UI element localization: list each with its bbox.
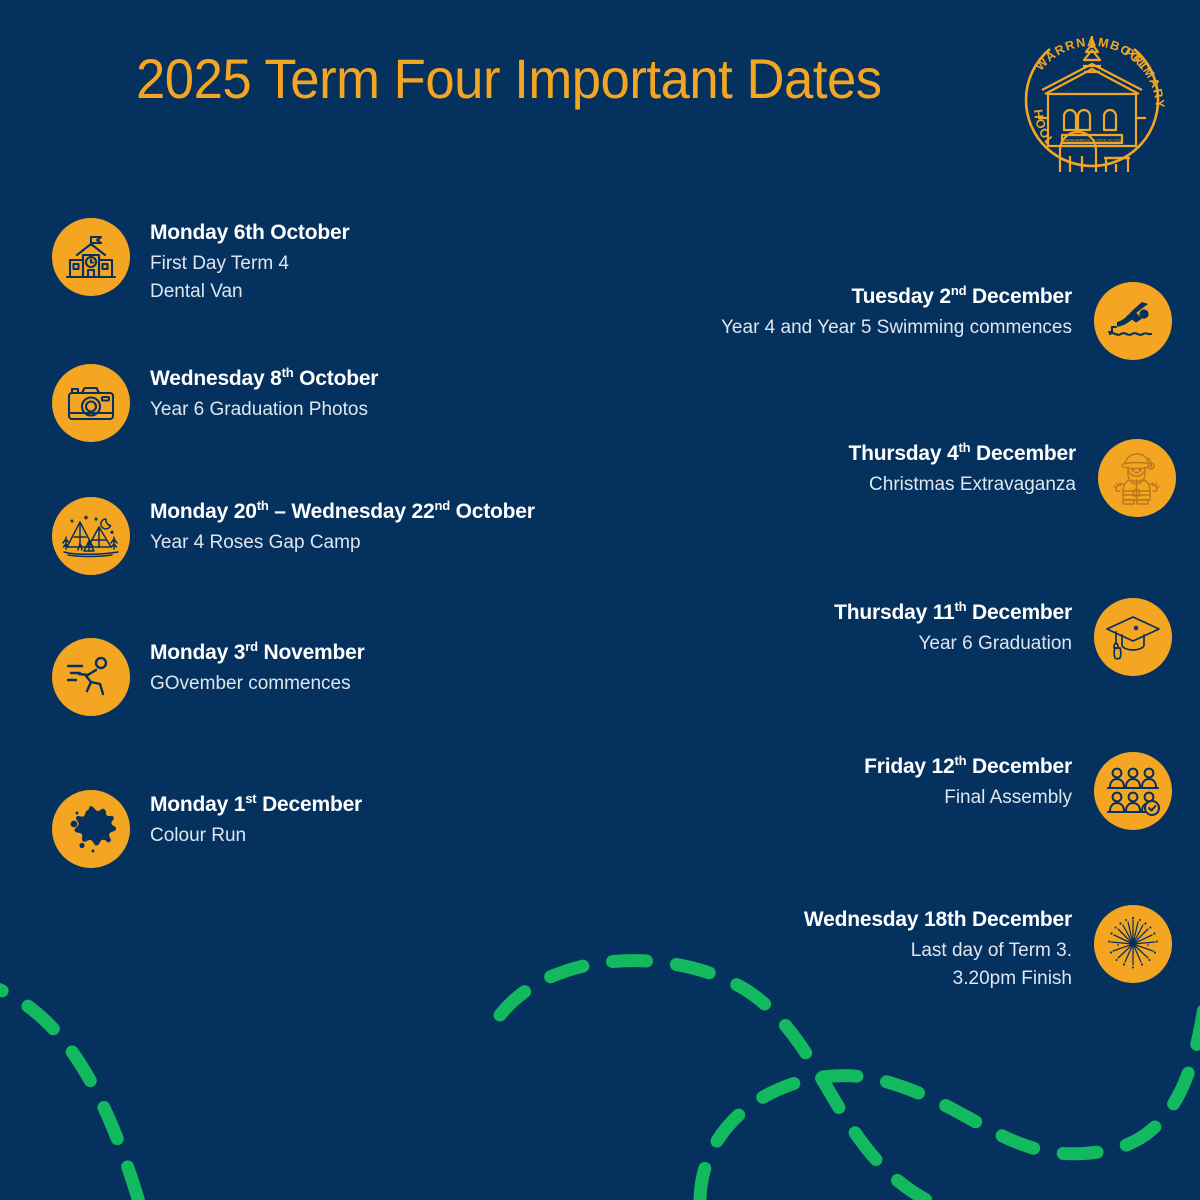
event-description: Year 4 and Year 5 Swimming commences: [721, 314, 1072, 342]
event-description: Year 4 Roses Gap Camp: [150, 529, 535, 557]
event-text: Thursday 4th December Christmas Extravag…: [848, 439, 1076, 499]
event-date: Monday 20th – Wednesday 22nd October: [150, 499, 535, 525]
event-date: Friday 12th December: [864, 754, 1072, 780]
event-date: Monday 6th October: [150, 220, 349, 246]
event-description: Final Assembly: [864, 784, 1072, 812]
event-row: Monday 20th – Wednesday 22nd October Yea…: [52, 497, 535, 575]
event-date: Monday 3rd November: [150, 640, 365, 666]
poster-canvas: WARRNAMBOOL: [0, 0, 1200, 1200]
event-description: Christmas Extravaganza: [848, 471, 1076, 499]
paint-splat-icon: [52, 790, 130, 868]
svg-text:PRIMARY: PRIMARY: [1122, 45, 1167, 110]
event-date: Tuesday 2nd December: [721, 284, 1072, 310]
event-date: Monday 1st December: [150, 792, 362, 818]
running-person-icon: [52, 638, 130, 716]
event-row: Friday 12th December Final Assembly: [864, 752, 1172, 830]
page-title: 2025 Term Four Important Dates: [136, 50, 882, 109]
event-row: Wednesday 18th December Last day of Term…: [804, 905, 1172, 992]
event-description: First Day Term 4 Dental Van: [150, 250, 349, 305]
event-row: Tuesday 2nd December Year 4 and Year 5 S…: [721, 282, 1172, 360]
school-building-icon: [52, 218, 130, 296]
event-text: Monday 3rd November GOvember commences: [150, 638, 365, 698]
event-text: Wednesday 8th October Year 6 Graduation …: [150, 364, 378, 424]
event-date: Thursday 11th December: [834, 600, 1072, 626]
event-text: Friday 12th December Final Assembly: [864, 752, 1072, 812]
event-text: Monday 1st December Colour Run: [150, 790, 362, 850]
event-date: Thursday 4th December: [848, 441, 1076, 467]
graduation-cap-icon: [1094, 598, 1172, 676]
swimmer-diving-icon: [1094, 282, 1172, 360]
event-date: Wednesday 8th October: [150, 366, 378, 392]
event-description: Last day of Term 3. 3.20pm Finish: [804, 937, 1072, 992]
warrnambool-primary-school-logo: WARRNAMBOOL: [1012, 22, 1172, 182]
event-description: Colour Run: [150, 822, 362, 850]
logo-arc-text-right: PRIMARY: [1122, 45, 1167, 110]
santa-claus-icon: [1098, 439, 1176, 517]
event-text: Wednesday 18th December Last day of Term…: [804, 905, 1072, 992]
camping-mountains-icon: [52, 497, 130, 575]
fireworks-icon: [1094, 905, 1172, 983]
event-row: Monday 1st December Colour Run: [52, 790, 362, 868]
event-description: Year 6 Graduation Photos: [150, 396, 378, 424]
event-row: Thursday 4th December Christmas Extravag…: [848, 439, 1176, 517]
audience-group-icon: [1094, 752, 1172, 830]
event-text: Monday 6th October First Day Term 4 Dent…: [150, 218, 349, 305]
event-text: Tuesday 2nd December Year 4 and Year 5 S…: [721, 282, 1072, 342]
logo-plaque-text: WARRNAMBOOL SCHOOL No 3753: [1062, 139, 1121, 143]
event-row: Wednesday 8th October Year 6 Graduation …: [52, 364, 378, 442]
event-date: Wednesday 18th December: [804, 907, 1072, 933]
event-row: Monday 6th October First Day Term 4 Dent…: [52, 218, 349, 305]
event-description: GOvember commences: [150, 670, 365, 698]
event-description: Year 6 Graduation: [834, 630, 1072, 658]
event-text: Thursday 11th December Year 6 Graduation: [834, 598, 1072, 658]
event-row: Monday 3rd November GOvember commences: [52, 638, 365, 716]
event-text: Monday 20th – Wednesday 22nd October Yea…: [150, 497, 535, 557]
event-row: Thursday 11th December Year 6 Graduation: [834, 598, 1172, 676]
camera-icon: [52, 364, 130, 442]
